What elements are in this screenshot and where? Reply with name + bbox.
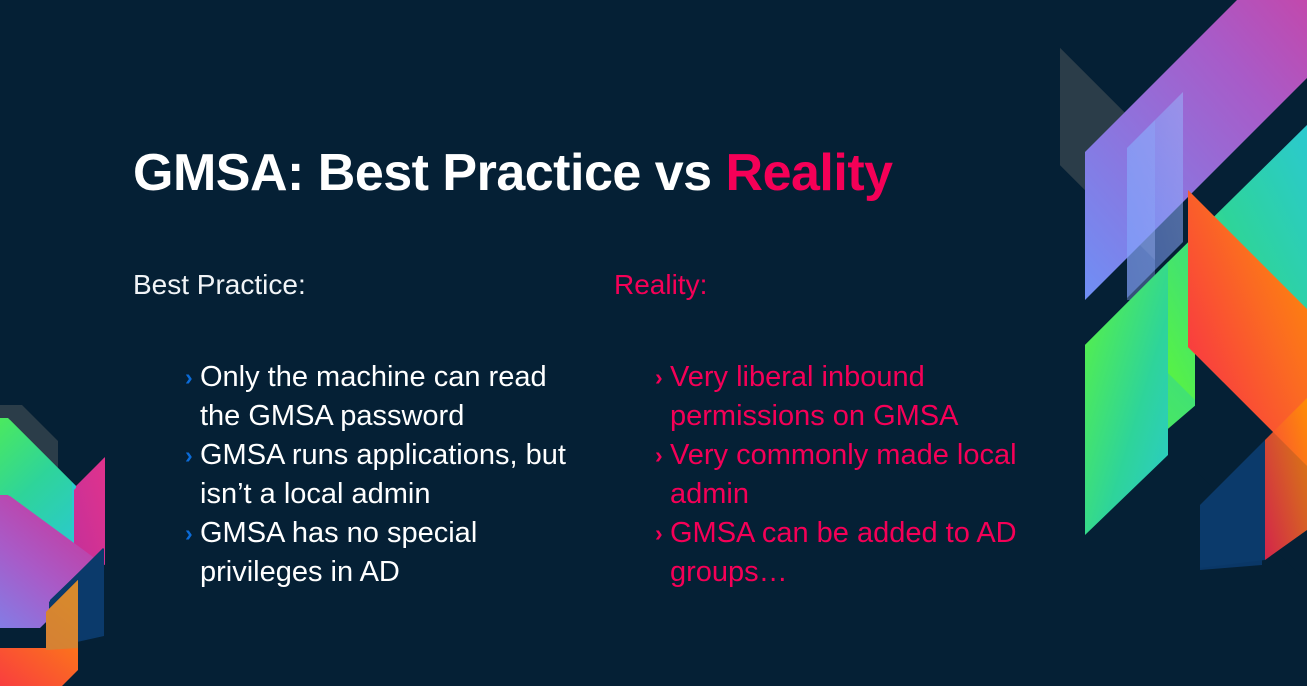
chevron-right-icon: ›	[632, 514, 670, 553]
page-title: GMSA: Best Practice vs Reality	[133, 146, 893, 201]
slide-canvas: GMSA: Best Practice vs Reality Best Prac…	[0, 0, 1307, 686]
list-item: › GMSA runs applications, but isn’t a lo…	[162, 436, 583, 514]
list-item: › Very liberal inbound permissions on GM…	[632, 358, 1034, 436]
list-item: › Very commonly made local admin	[632, 436, 1034, 514]
bullet-list-reality: › Very liberal inbound permissions on GM…	[632, 358, 1034, 592]
list-item-label: Very commonly made local admin	[670, 436, 1034, 514]
column-heading-reality: Reality:	[614, 268, 1034, 302]
list-item-label: GMSA runs applications, but isn’t a loca…	[200, 436, 583, 514]
list-item-label: Only the machine can read the GMSA passw…	[200, 358, 583, 436]
chevron-right-icon: ›	[162, 436, 200, 475]
list-item-label: GMSA has no special privileges in AD	[200, 514, 583, 592]
page-title-accent: Reality	[726, 144, 893, 202]
chevron-right-icon: ›	[632, 436, 670, 475]
page-title-main: GMSA: Best Practice vs	[133, 144, 726, 202]
column-best-practice: Best Practice: › Only the machine can re…	[133, 268, 583, 592]
column-heading-best-practice: Best Practice:	[133, 268, 583, 302]
list-item: › GMSA can be added to AD groups…	[632, 514, 1034, 592]
list-item: › Only the machine can read the GMSA pas…	[162, 358, 583, 436]
chevron-right-icon: ›	[632, 358, 670, 397]
bullet-list-best-practice: › Only the machine can read the GMSA pas…	[162, 358, 583, 592]
list-item-label: Very liberal inbound permissions on GMSA	[670, 358, 1034, 436]
list-item: › GMSA has no special privileges in AD	[162, 514, 583, 592]
column-reality: Reality: › Very liberal inbound permissi…	[614, 268, 1034, 592]
chevron-right-icon: ›	[162, 358, 200, 397]
list-item-label: GMSA can be added to AD groups…	[670, 514, 1034, 592]
chevron-right-icon: ›	[162, 514, 200, 553]
